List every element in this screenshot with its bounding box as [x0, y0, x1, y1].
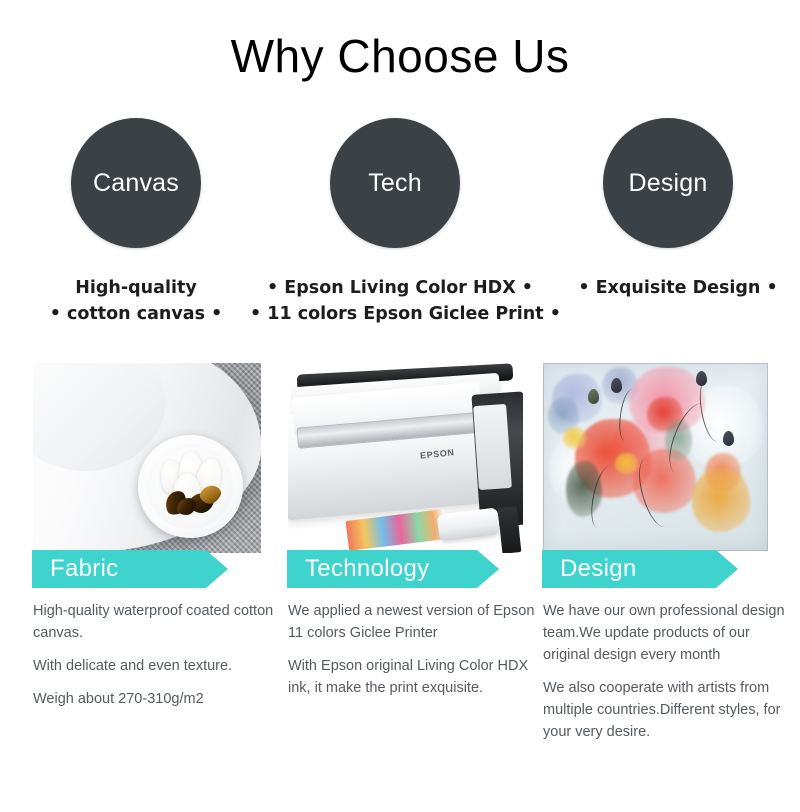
circle-label-design: Design	[628, 169, 707, 198]
description-paragraph: High-quality waterproof coated cotton ca…	[33, 600, 278, 644]
page-title: Why Choose Us	[0, 32, 800, 80]
caption-tech: • Epson Living Color HDX • • 11 colors E…	[250, 276, 550, 328]
description-paragraph: Weigh about 270-310g/m2	[33, 688, 278, 710]
circle-shape-design: Design	[603, 118, 733, 248]
circle-shape-tech: Tech	[330, 118, 460, 248]
description-paragraph: We applied a newest version of Epson 11 …	[288, 600, 536, 644]
printer-right-panel	[473, 404, 512, 490]
description-fabric: High-quality waterproof coated cotton ca…	[33, 600, 278, 710]
description-columns: High-quality waterproof coated cotton ca…	[0, 600, 800, 800]
abstract-floral-painting-photo	[543, 363, 768, 551]
circle-label-tech: Tech	[368, 169, 422, 198]
caption-canvas-line-2: • cotton canvas •	[16, 302, 256, 328]
description-paragraph: We also cooperate with artists from mult…	[543, 677, 793, 743]
feature-circles-row: Canvas Tech Design	[0, 118, 800, 248]
description-paragraph: With Epson original Living Color HDX ink…	[288, 655, 536, 699]
banner-design: Design	[542, 550, 738, 588]
description-paragraph: With delicate and even texture.	[33, 655, 278, 677]
circle-label-canvas: Canvas	[93, 169, 179, 198]
caption-canvas-line-1: High-quality	[16, 276, 256, 302]
circle-shape-canvas: Canvas	[71, 118, 201, 248]
feature-circle-tech: Tech	[330, 118, 460, 248]
description-design: We have our own professional design team…	[543, 600, 793, 743]
description-technology: We applied a newest version of Epson 11 …	[288, 600, 536, 699]
banner-technology: Technology	[287, 550, 499, 588]
caption-tech-line-2: • 11 colors Epson Giclee Print •	[250, 302, 550, 328]
feature-circle-design: Design	[603, 118, 733, 248]
painting-frame-edge	[543, 363, 768, 551]
plate-inner	[147, 444, 233, 528]
cotton-husk	[177, 498, 196, 515]
canvas-roll-and-cotton-photo	[33, 363, 261, 553]
caption-tech-line-1: • Epson Living Color HDX •	[250, 276, 550, 302]
feature-circle-canvas: Canvas	[71, 118, 201, 248]
white-plate	[138, 435, 243, 538]
banner-fabric: Fabric	[32, 550, 228, 588]
why-choose-us-infographic: Why Choose Us Canvas Tech Design High-qu…	[0, 0, 800, 812]
printer-stand-leg	[497, 507, 520, 553]
card-fabric	[33, 363, 261, 553]
epson-large-format-printer-photo: EPSON	[288, 363, 523, 553]
description-paragraph: We have our own professional design team…	[543, 600, 793, 666]
caption-design-line-1: • Exquisite Design •	[556, 276, 800, 302]
caption-canvas: High-quality • cotton canvas •	[16, 276, 256, 328]
card-technology: EPSON	[288, 363, 523, 553]
caption-design: • Exquisite Design •	[556, 276, 800, 302]
card-design	[543, 363, 768, 551]
feature-captions-row: High-quality • cotton canvas • • Epson L…	[0, 276, 800, 346]
